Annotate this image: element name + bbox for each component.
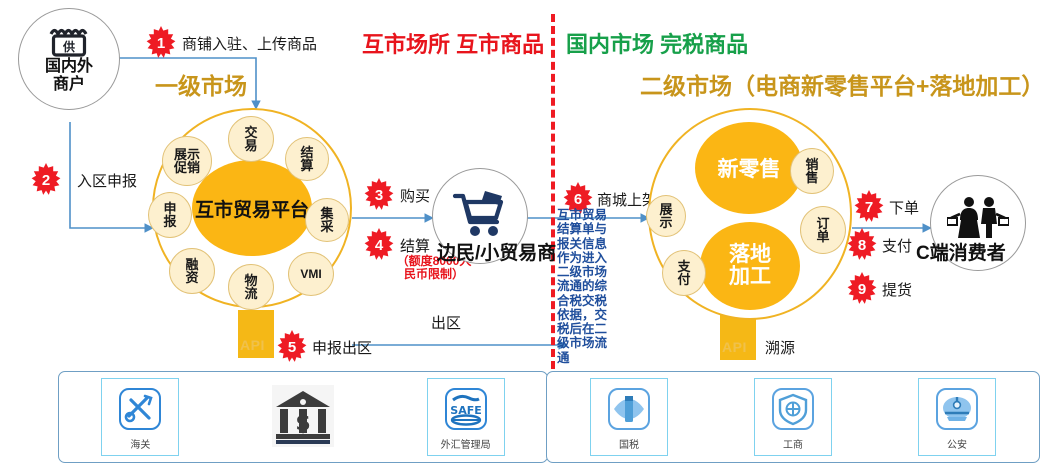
- authority-police[interactable]: 公安: [918, 378, 996, 456]
- step-badge-4-num: 4: [362, 228, 396, 262]
- primary-satellite-jiesuan-label: 结算: [298, 146, 316, 173]
- authority-safe[interactable]: SAFE 外汇管理局: [427, 378, 505, 456]
- shop-awning-icon: 供: [47, 25, 91, 57]
- secondary-satellite-zhifu[interactable]: 支付: [662, 250, 706, 296]
- step-badge-3-num: 3: [362, 178, 396, 212]
- secondary-satellite-zhanshi-label: 展示: [658, 203, 674, 230]
- step-badge-1-num: 1: [144, 26, 178, 60]
- safe-forex-icon: SAFE: [441, 384, 491, 434]
- secondary-satellite-dingdan[interactable]: 订单: [800, 206, 846, 254]
- primary-satellite-zhanshi[interactable]: 展示促销: [162, 136, 212, 186]
- primary-satellite-wuliu[interactable]: 物流: [228, 264, 274, 310]
- diagram-canvas: 互市场所 互市商品 国内市场 完税商品 一级市场 二级市场（电商新零售平台+落地…: [0, 0, 1058, 473]
- authority-bank[interactable]: $: [264, 378, 342, 456]
- authority-commerce-label: 工商: [783, 436, 803, 451]
- secondary-satellite-dingdan-label: 订单: [814, 217, 832, 244]
- market-divider: [551, 14, 555, 369]
- step-label-3: 购买: [400, 185, 430, 206]
- secondary-core-processing[interactable]: 落地 加工: [700, 222, 800, 310]
- step-badge-5[interactable]: 5: [275, 330, 309, 364]
- secondary-core-new-retail[interactable]: 新零售: [695, 122, 803, 214]
- header-secondary-market: 二级市场（电商新零售平台+落地加工）: [640, 67, 1044, 101]
- secondary-satellite-xiaoshou-label: 销售: [803, 158, 821, 185]
- authority-customs[interactable]: 海关: [101, 378, 179, 456]
- step-badge-4[interactable]: 4: [362, 228, 396, 262]
- step-label-5: 申报出区: [312, 337, 372, 358]
- trader-label: 边民/小贸易商: [437, 238, 556, 265]
- step-badge-2[interactable]: 2: [29, 163, 63, 197]
- consumer-label: C端消费者: [916, 238, 1006, 265]
- step-label-8: 支付: [882, 235, 912, 256]
- step-badge-7-num: 7: [852, 190, 886, 224]
- primary-satellite-rongzi[interactable]: 融资: [169, 248, 215, 294]
- step-badge-9[interactable]: 9: [845, 272, 879, 306]
- authority-safe-label: 外汇管理局: [441, 436, 491, 451]
- commerce-icon: [768, 384, 818, 434]
- step-badge-3[interactable]: 3: [362, 178, 396, 212]
- supplier-label-line2: 商户: [53, 76, 85, 93]
- trace-label: 溯源: [765, 337, 795, 358]
- police-icon: [932, 384, 982, 434]
- step-label-9: 提货: [882, 279, 912, 300]
- tax-icon: [604, 384, 654, 434]
- header-primary-market: 一级市场: [155, 67, 247, 101]
- authority-customs-label: 海关: [130, 436, 150, 451]
- authority-tax[interactable]: 国税: [590, 378, 668, 456]
- bank-icon: $: [272, 385, 334, 447]
- secondary-api-label: API: [722, 339, 747, 355]
- primary-satellite-jicai-label: 集采: [318, 207, 336, 234]
- supplier-label-line1: 国内外: [45, 58, 93, 75]
- primary-satellite-jiaoyi-label: 交易: [241, 126, 261, 153]
- primary-satellite-vmi-label: VMI: [300, 268, 321, 280]
- step-label-7: 下单: [889, 197, 919, 218]
- secondary-satellite-zhanshi[interactable]: 展示: [646, 195, 686, 237]
- step-badge-5-num: 5: [275, 330, 309, 364]
- authority-tax-label: 国税: [619, 436, 639, 451]
- primary-satellite-rongzi-label: 融资: [183, 258, 201, 285]
- primary-satellite-vmi[interactable]: VMI: [288, 252, 334, 296]
- exit-zone-label: 出区: [431, 312, 461, 333]
- step-label-2: 入区申报: [77, 170, 137, 191]
- step-badge-9-num: 9: [845, 272, 879, 306]
- primary-satellite-jicai[interactable]: 集采: [305, 198, 349, 242]
- shopping-cart-icon: [452, 189, 508, 244]
- step-badge-1[interactable]: 1: [144, 26, 178, 60]
- authority-bar-right: 国税 工商: [546, 371, 1040, 463]
- header-left-red: 互市场所 互市商品: [362, 27, 544, 59]
- secondary-core-processing-line1: 落地: [729, 244, 771, 266]
- supplier-node[interactable]: 供 国内外 商户: [18, 8, 120, 110]
- primary-satellite-wuliu-label: 物流: [242, 274, 260, 301]
- primary-satellite-jiaoyi[interactable]: 交易: [228, 116, 274, 162]
- customs-icon: [115, 384, 165, 434]
- primary-api-label: API: [240, 337, 265, 353]
- step-label-1: 商铺入驻、上传商品: [182, 33, 317, 54]
- step-badge-7[interactable]: 7: [852, 190, 886, 224]
- step-label-4: 结算: [400, 235, 430, 256]
- primary-satellite-shenbao-label: 申报: [161, 202, 179, 229]
- step-badge-2-num: 2: [29, 163, 63, 197]
- primary-satellite-shenbao[interactable]: 申报: [148, 192, 192, 238]
- authority-commerce[interactable]: 工商: [754, 378, 832, 456]
- svg-text:$: $: [295, 411, 310, 436]
- authority-bar-left: 海关 $: [58, 371, 548, 463]
- secondary-satellite-xiaoshou[interactable]: 销售: [790, 148, 834, 194]
- secondary-satellite-zhifu-label: 支付: [675, 260, 693, 287]
- primary-satellite-jiesuan[interactable]: 结算: [285, 137, 329, 181]
- supplier-icon-text: 供: [47, 38, 91, 55]
- secondary-core-processing-line2: 加工: [729, 266, 771, 288]
- authority-police-label: 公安: [947, 436, 967, 451]
- tax-basis-note: 互市贸易结算单与报关信息作为进入二级市场流通的综合税交税依据，交税后在二级市场流…: [557, 208, 619, 365]
- primary-satellite-zhanshi-label: 展示促销: [174, 148, 200, 175]
- header-right-green: 国内市场 完税商品: [566, 27, 748, 59]
